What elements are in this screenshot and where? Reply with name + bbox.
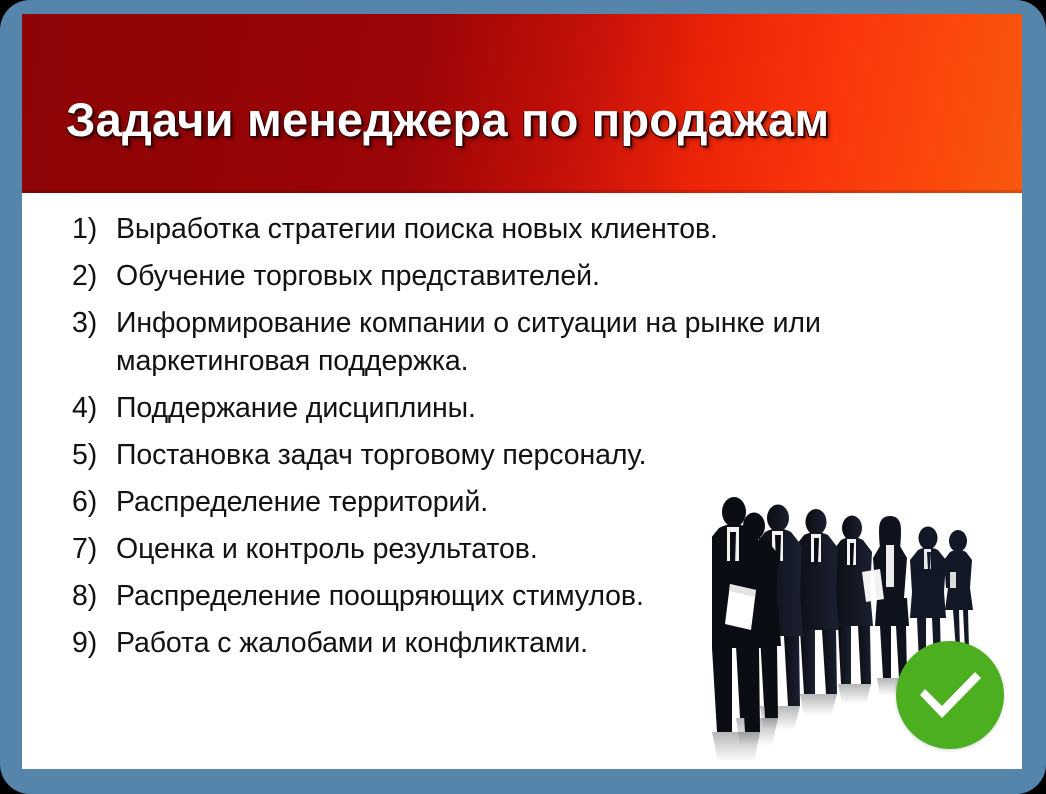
- task-number: 3): [72, 304, 97, 342]
- task-text: Постановка задач торговому персоналу.: [116, 436, 916, 474]
- task-list-item: 2) Обучение торговых представителей.: [72, 257, 972, 295]
- task-list-item: 3) Информирование компании о ситуации на…: [72, 304, 972, 380]
- task-number: 6): [72, 483, 97, 521]
- task-text: Поддержание дисциплины.: [116, 389, 916, 427]
- slide-title: Задачи менеджера по продажам: [66, 92, 1006, 147]
- task-text: Выработка стратегии поиска новых клиенто…: [116, 210, 916, 248]
- slide-content-plate: Задачи менеджера по продажам 1) Выработк…: [22, 14, 1022, 769]
- task-number: 1): [72, 210, 97, 248]
- task-number: 5): [72, 436, 97, 474]
- task-number: 7): [72, 530, 97, 568]
- task-list-item: 5) Постановка задач торговому персоналу.: [72, 436, 972, 474]
- task-number: 2): [72, 257, 97, 295]
- green-check-circle-icon: [896, 641, 1004, 749]
- task-text: Обучение торговых представителей.: [116, 257, 916, 295]
- task-list-item: 4) Поддержание дисциплины.: [72, 389, 972, 427]
- task-text: Информирование компании о ситуации на ры…: [116, 304, 916, 380]
- presentation-slide: Задачи менеджера по продажам 1) Выработк…: [0, 0, 1046, 794]
- check-mark-icon: [916, 665, 984, 725]
- task-number: 8): [72, 577, 97, 615]
- task-list-item: 1) Выработка стратегии поиска новых клие…: [72, 210, 972, 248]
- task-number: 4): [72, 389, 97, 427]
- task-number: 9): [72, 624, 97, 662]
